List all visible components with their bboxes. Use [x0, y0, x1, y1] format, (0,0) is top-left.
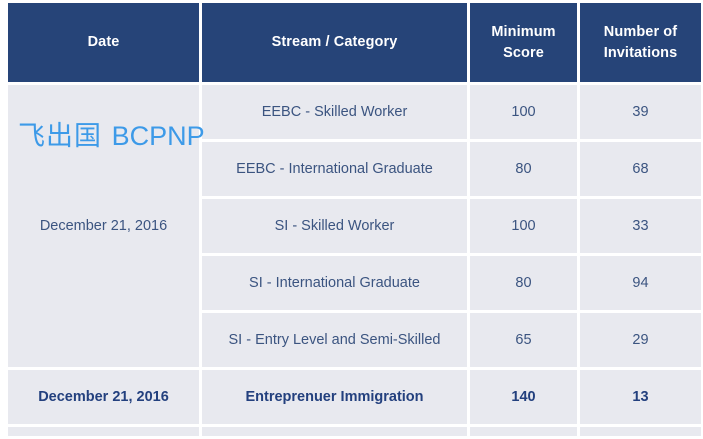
cell-minimum-score: 100: [470, 85, 577, 139]
column-header-number-of-invitations-line1: Number of: [584, 22, 697, 43]
cell-number-of-invitations: 39: [580, 85, 701, 139]
cell-minimum-score: [470, 427, 577, 436]
cell-date: [8, 427, 199, 436]
cell-stream: SI - Entry Level and Semi-Skilled: [202, 313, 467, 367]
cell-stream: SI - International Graduate: [202, 256, 467, 310]
table-row: December 21, 2016 EEBC - Skilled Worker …: [8, 85, 701, 139]
cell-number-of-invitations: [580, 427, 701, 436]
cell-number-of-invitations: 29: [580, 313, 701, 367]
cell-number-of-invitations: 94: [580, 256, 701, 310]
cell-minimum-score: 140: [470, 370, 577, 424]
table-header-row: Date Stream / Category Minimum Score Num…: [8, 3, 701, 82]
column-header-minimum-score: Minimum Score: [470, 3, 577, 82]
cell-minimum-score: 80: [470, 256, 577, 310]
column-header-minimum-score-line2: Score: [474, 43, 573, 64]
cell-stream: EEBC - Skilled Worker: [202, 85, 467, 139]
invitations-table: Date Stream / Category Minimum Score Num…: [5, 0, 703, 439]
table-row-partial: [8, 427, 701, 436]
column-header-number-of-invitations-line2: Invitations: [584, 43, 697, 64]
column-header-stream-category: Stream / Category: [202, 3, 467, 82]
cell-number-of-invitations: 33: [580, 199, 701, 253]
cell-stream: [202, 427, 467, 436]
document-canvas: Date Stream / Category Minimum Score Num…: [0, 0, 703, 423]
cell-number-of-invitations: 13: [580, 370, 701, 424]
table-row-highlight: December 21, 2016 Entreprenuer Immigrati…: [8, 370, 701, 424]
cell-stream: Entreprenuer Immigration: [202, 370, 467, 424]
cell-date-group: December 21, 2016: [8, 85, 199, 367]
cell-minimum-score: 100: [470, 199, 577, 253]
cell-number-of-invitations: 68: [580, 142, 701, 196]
column-header-minimum-score-line1: Minimum: [474, 22, 573, 43]
column-header-date: Date: [8, 3, 199, 82]
cell-minimum-score: 80: [470, 142, 577, 196]
cell-date: December 21, 2016: [8, 370, 199, 424]
column-header-number-of-invitations: Number of Invitations: [580, 3, 701, 82]
cell-stream: SI - Skilled Worker: [202, 199, 467, 253]
cell-minimum-score: 65: [470, 313, 577, 367]
cell-stream: EEBC - International Graduate: [202, 142, 467, 196]
